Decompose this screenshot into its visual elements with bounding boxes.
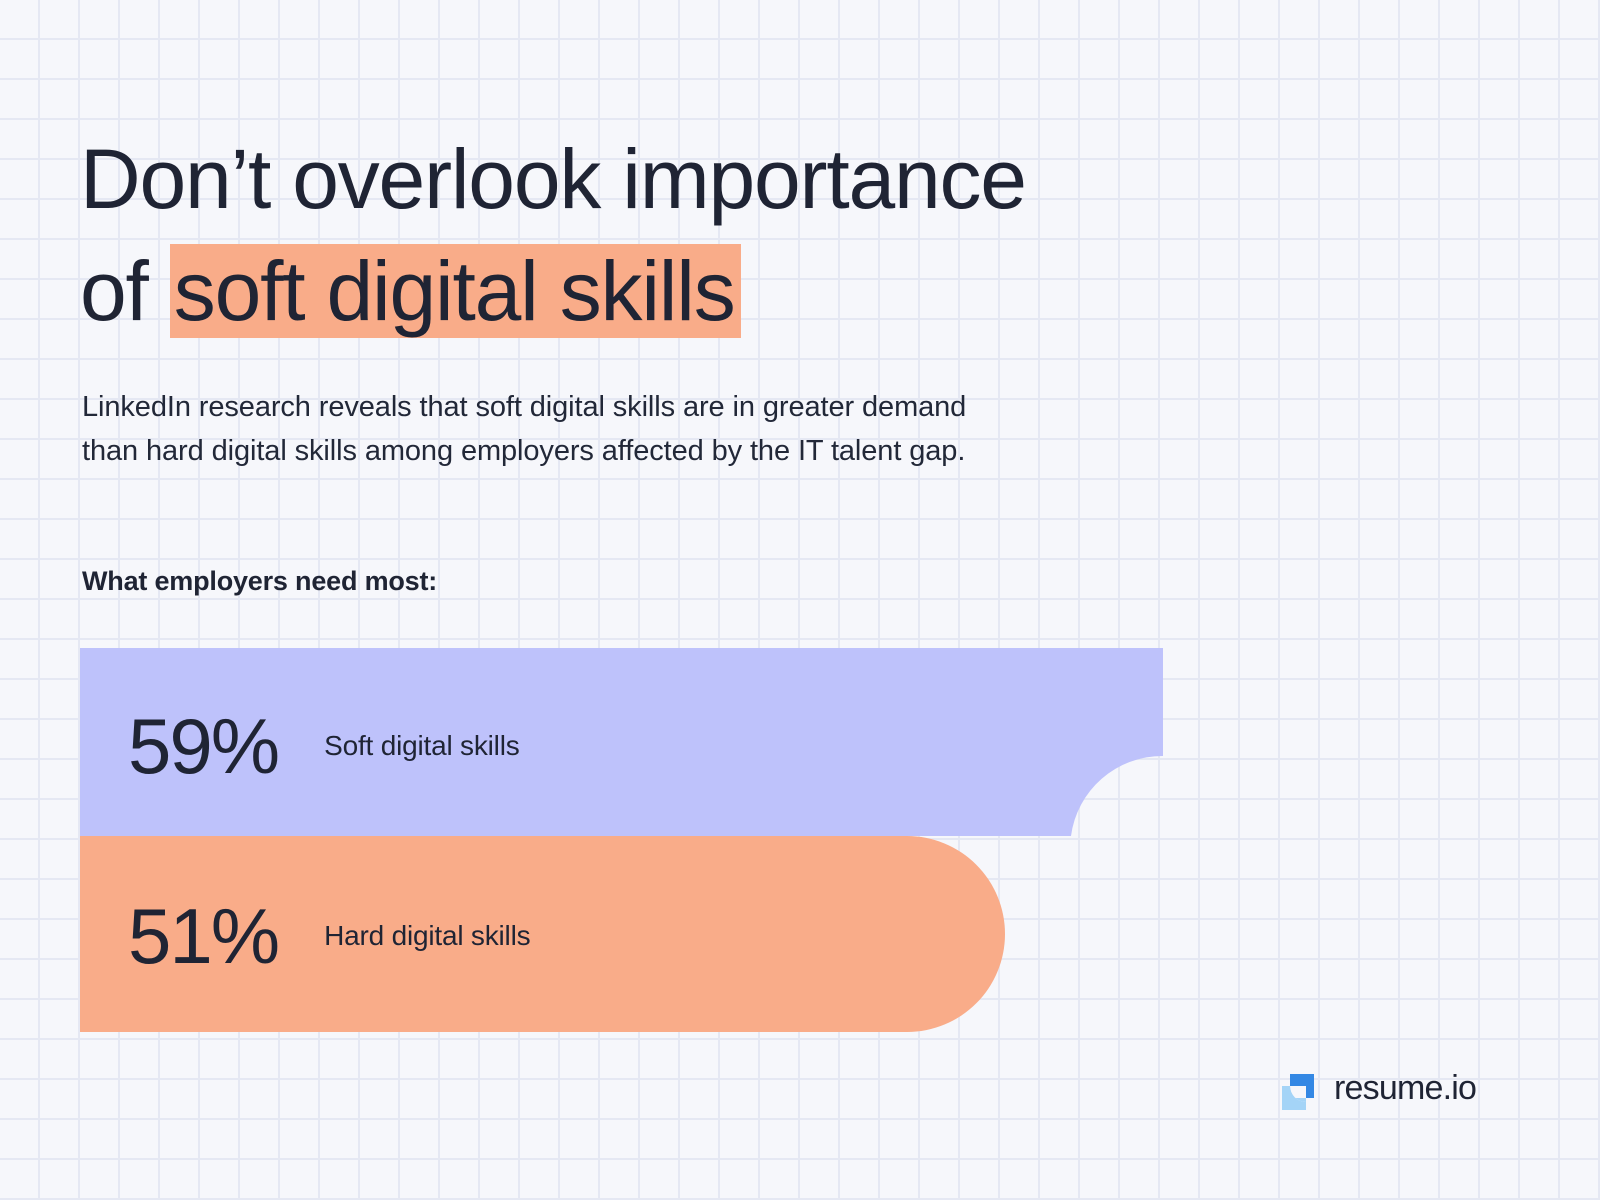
resume-io-logo-icon bbox=[1274, 1066, 1318, 1110]
brand-name: resume.io bbox=[1334, 1071, 1476, 1105]
bar-label-hard: Hard digital skills bbox=[324, 920, 530, 952]
headline-line-2-prefix: of bbox=[80, 244, 170, 338]
subtitle-line-2: than hard digital skills among employers… bbox=[82, 429, 1192, 473]
page-title: Don’t overlook importance of soft digita… bbox=[80, 124, 1260, 347]
bar-content-soft: 59% Soft digital skills bbox=[80, 648, 520, 836]
subtitle-line-1: LinkedIn research reveals that soft digi… bbox=[82, 385, 1192, 429]
bar-value-soft: 59% bbox=[128, 707, 278, 785]
bar-content-hard: 51% Hard digital skills bbox=[80, 836, 530, 1032]
headline-line-2: of soft digital skills bbox=[80, 236, 1260, 348]
headline-highlight: soft digital skills bbox=[170, 244, 741, 338]
bar-label-soft: Soft digital skills bbox=[324, 730, 519, 762]
bar-value-hard: 51% bbox=[128, 897, 278, 975]
infographic-canvas: Don’t overlook importance of soft digita… bbox=[0, 0, 1600, 1200]
brand-logo[interactable]: resume.io bbox=[1274, 1064, 1494, 1112]
subtitle: LinkedIn research reveals that soft digi… bbox=[82, 385, 1192, 473]
chart-title: What employers need most: bbox=[82, 566, 437, 597]
headline-line-1: Don’t overlook importance bbox=[80, 124, 1260, 236]
bar-row: 51% Hard digital skills bbox=[80, 836, 1200, 1032]
bar-row: 59% Soft digital skills bbox=[80, 648, 1200, 836]
bar-chart: 59% Soft digital skills 51% Hard digital… bbox=[80, 648, 1200, 1038]
